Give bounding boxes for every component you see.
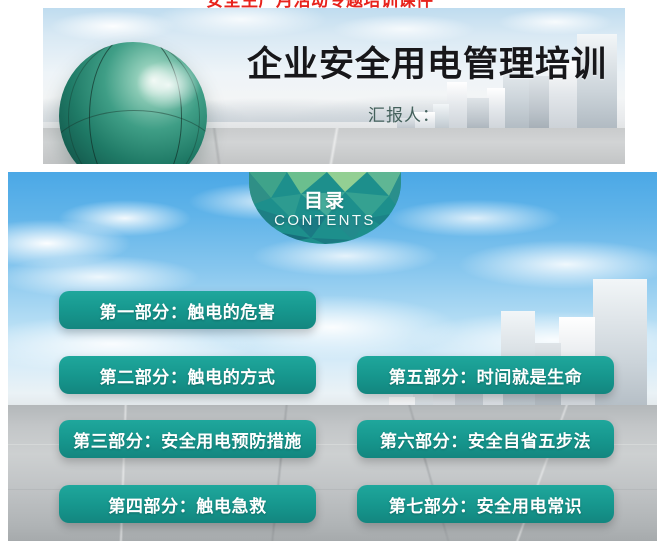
contents-item-4[interactable]: 第四部分：触电急救 <box>59 485 316 523</box>
slide-title: 企业安全用电管理培训 <box>247 36 607 87</box>
contents-title: 目录 <box>249 186 401 213</box>
contents-item-label: 第四部分：触电急救 <box>108 492 266 517</box>
cut-off-heading-strip: 安全生产月活动专题培训课件 <box>0 0 665 8</box>
contents-header-medallion: 目录 CONTENTS <box>249 172 401 244</box>
contents-item-label: 第二部分：触电的方式 <box>100 363 276 388</box>
contents-item-5[interactable]: 第五部分：时间就是生命 <box>357 356 614 394</box>
slide-deck-screenshot: 安全生产月活动专题培训课件 企业安全用电管理培训 汇报人： <box>0 0 665 541</box>
contents-item-label: 第七部分：安全用电常识 <box>389 492 583 517</box>
contents-item-6[interactable]: 第六部分：安全自省五步法 <box>357 420 614 458</box>
contents-slide: 目录 CONTENTS 第一部分：触电的危害第二部分：触电的方式第三部分：安全用… <box>8 172 657 541</box>
cut-off-heading-text: 安全生产月活动专题培训课件 <box>206 0 434 8</box>
title-slide: 企业安全用电管理培训 汇报人： <box>43 8 625 164</box>
contents-item-label: 第五部分：时间就是生命 <box>389 363 583 388</box>
contents-item-7[interactable]: 第七部分：安全用电常识 <box>357 485 614 523</box>
contents-item-label: 第三部分：安全用电预防措施 <box>73 427 302 452</box>
contents-subtitle: CONTENTS <box>249 212 401 229</box>
contents-item-label: 第一部分：触电的危害 <box>100 298 276 323</box>
contents-item-2[interactable]: 第二部分：触电的方式 <box>59 356 316 394</box>
presenter-label: 汇报人： <box>368 101 440 126</box>
contents-item-1[interactable]: 第一部分：触电的危害 <box>59 291 316 329</box>
contents-item-3[interactable]: 第三部分：安全用电预防措施 <box>59 420 316 458</box>
contents-item-label: 第六部分：安全自省五步法 <box>380 427 591 452</box>
